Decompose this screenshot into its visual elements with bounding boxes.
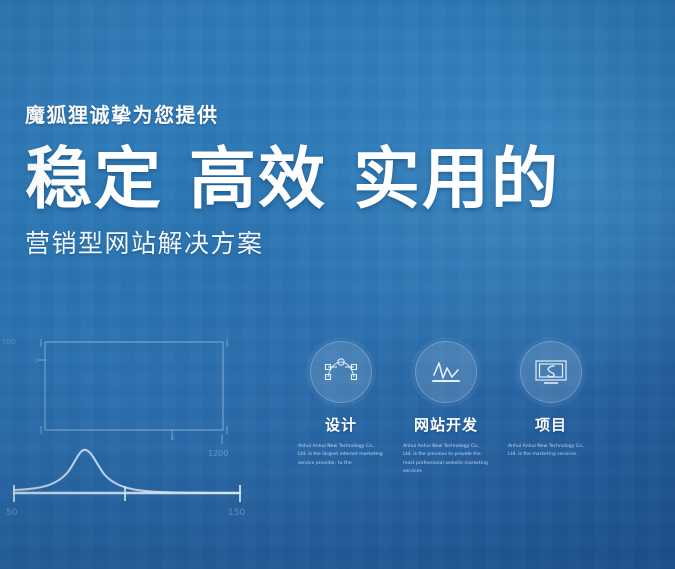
monitor-screen-icon bbox=[534, 358, 568, 386]
feature-description: Anhui Anhui New Technology Co., Ltd. is … bbox=[296, 443, 386, 468]
headline-block: 魔狐狸诚挚为您提供 稳定高效实用的 营销型网站解决方案 bbox=[25, 103, 625, 261]
svg-text:1200: 1200 bbox=[208, 449, 228, 458]
feature-list: 设计 Anhui Anhui New Technology Co., Ltd. … bbox=[296, 341, 596, 477]
feature-icon-circle bbox=[520, 341, 582, 403]
svg-text:0: 0 bbox=[34, 358, 38, 365]
feature-description: Anhui Anhui New Technology Co., Ltd. is … bbox=[506, 443, 596, 460]
feature-label: 项目 bbox=[506, 414, 596, 435]
svg-text:0: 0 bbox=[171, 435, 175, 442]
analytics-chart-icon bbox=[430, 357, 462, 387]
feature-item-web-development[interactable]: 网站开发 Anhui Anhui New Technology Co., Ltd… bbox=[401, 341, 491, 477]
feature-icon-circle bbox=[415, 341, 477, 403]
decorative-blueprint-chart: 500 0 0 1200 50 150 bbox=[0, 330, 280, 545]
feature-item-design[interactable]: 设计 Anhui Anhui New Technology Co., Ltd. … bbox=[296, 341, 386, 477]
feature-label: 设计 bbox=[296, 414, 386, 435]
hero-banner: 500 0 0 1200 50 150 魔狐狸诚挚为您提供 稳定高效实用的 营销… bbox=[0, 0, 675, 569]
svg-text:50: 50 bbox=[6, 508, 18, 518]
pen-path-icon bbox=[324, 357, 358, 387]
eyebrow-text: 魔狐狸诚挚为您提供 bbox=[25, 103, 625, 128]
headline-word-3: 实用的 bbox=[353, 140, 560, 218]
subtitle-text: 营销型网站解决方案 bbox=[25, 228, 625, 261]
svg-text:150: 150 bbox=[228, 508, 245, 518]
feature-item-project[interactable]: 项目 Anhui Anhui New Technology Co., Ltd. … bbox=[506, 341, 596, 477]
feature-icon-circle bbox=[310, 341, 372, 403]
page-title: 稳定高效实用的 bbox=[25, 144, 625, 214]
headline-word-1: 稳定 bbox=[25, 140, 163, 218]
svg-text:500: 500 bbox=[2, 338, 15, 346]
feature-label: 网站开发 bbox=[401, 414, 491, 435]
headline-word-2: 高效 bbox=[189, 140, 327, 218]
feature-description: Anhui Anhui New Technology Co., Ltd. is … bbox=[401, 443, 491, 477]
